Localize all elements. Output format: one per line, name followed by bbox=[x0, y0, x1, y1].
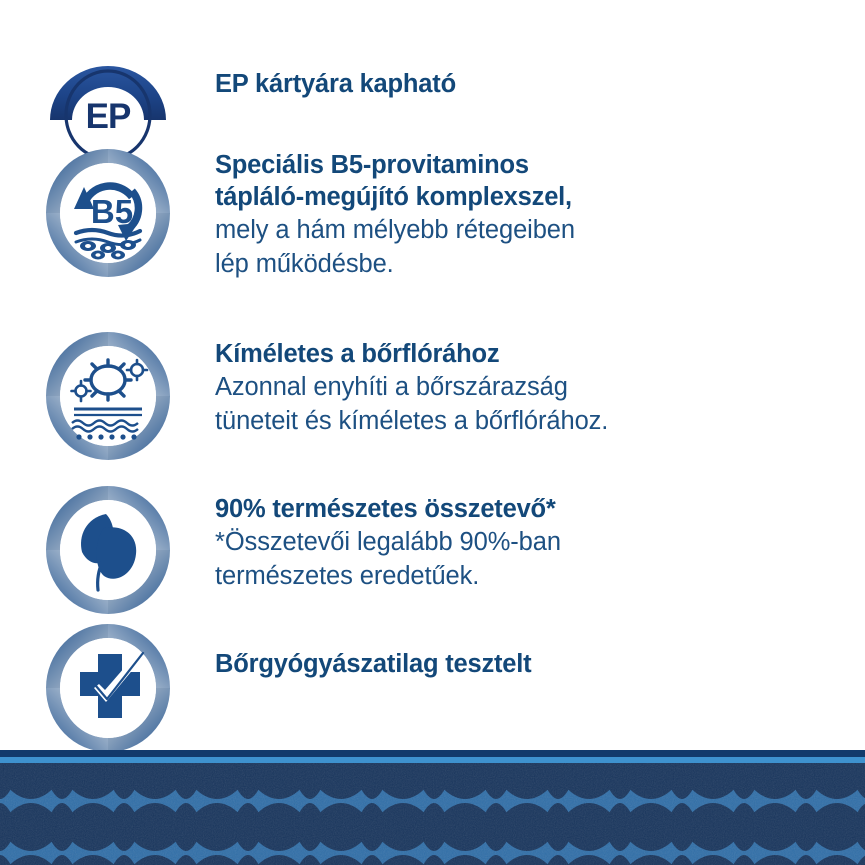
skin-microbiome-icon bbox=[44, 330, 172, 462]
benefit-body: *Összetevői legalább 90%-ban természetes… bbox=[215, 525, 825, 593]
benefit-title: 90% természetes összetevő* bbox=[215, 478, 825, 525]
benefit-title: Bőrgyógyászatilag tesztelt bbox=[215, 620, 825, 680]
ep-logo-text: EP bbox=[85, 97, 130, 136]
benefit-icon-cell bbox=[0, 478, 215, 616]
dermatologically-tested-icon bbox=[44, 622, 172, 754]
benefit-text-cell: EP kártyára kapható bbox=[215, 40, 865, 100]
benefit-icon-cell bbox=[0, 322, 215, 462]
benefit-text-cell: Kíméletes a bőrflórához Azonnal enyhíti … bbox=[215, 322, 865, 438]
benefit-item-b5-provitamin: B5 Speciális B5-provitaminos tápláló-meg… bbox=[0, 145, 865, 281]
b5-label-text: B5 bbox=[90, 193, 132, 230]
benefit-text-cell: Speciális B5-provitaminos tápláló-megújí… bbox=[215, 145, 865, 281]
benefit-body: Azonnal enyhíti a bőrszárazság tüneteit … bbox=[215, 370, 825, 438]
benefit-text-cell: 90% természetes összetevő* *Összetevői l… bbox=[215, 478, 865, 593]
benefit-item-skin-flora: Kíméletes a bőrflórához Azonnal enyhíti … bbox=[0, 322, 865, 462]
benefit-title: Speciális B5-provitaminos tápláló-megújí… bbox=[215, 145, 825, 213]
benefit-icon-cell bbox=[0, 620, 215, 754]
natural-leaf-icon bbox=[44, 484, 172, 616]
band-diamond-lattice-pattern bbox=[0, 763, 865, 865]
benefit-item-dermatologically-tested: Bőrgyógyászatilag tesztelt bbox=[0, 620, 865, 754]
b5-provitamin-icon: B5 bbox=[44, 147, 172, 279]
benefit-body: mely a hám mélyebb rétegeiben lép működé… bbox=[215, 213, 825, 281]
benefit-title: Kíméletes a bőrflórához bbox=[215, 322, 825, 370]
benefit-item-natural-ingredients: 90% természetes összetevő* *Összetevői l… bbox=[0, 478, 865, 616]
benefits-panel: EP EP kártyára kapható bbox=[0, 0, 865, 750]
benefit-icon-cell: B5 bbox=[0, 145, 215, 279]
benefit-text-cell: Bőrgyógyászatilag tesztelt bbox=[215, 620, 865, 680]
benefit-title: EP kártyára kapható bbox=[215, 40, 825, 100]
band-stripe-dark bbox=[0, 750, 865, 757]
decorative-pattern-band bbox=[0, 750, 865, 865]
